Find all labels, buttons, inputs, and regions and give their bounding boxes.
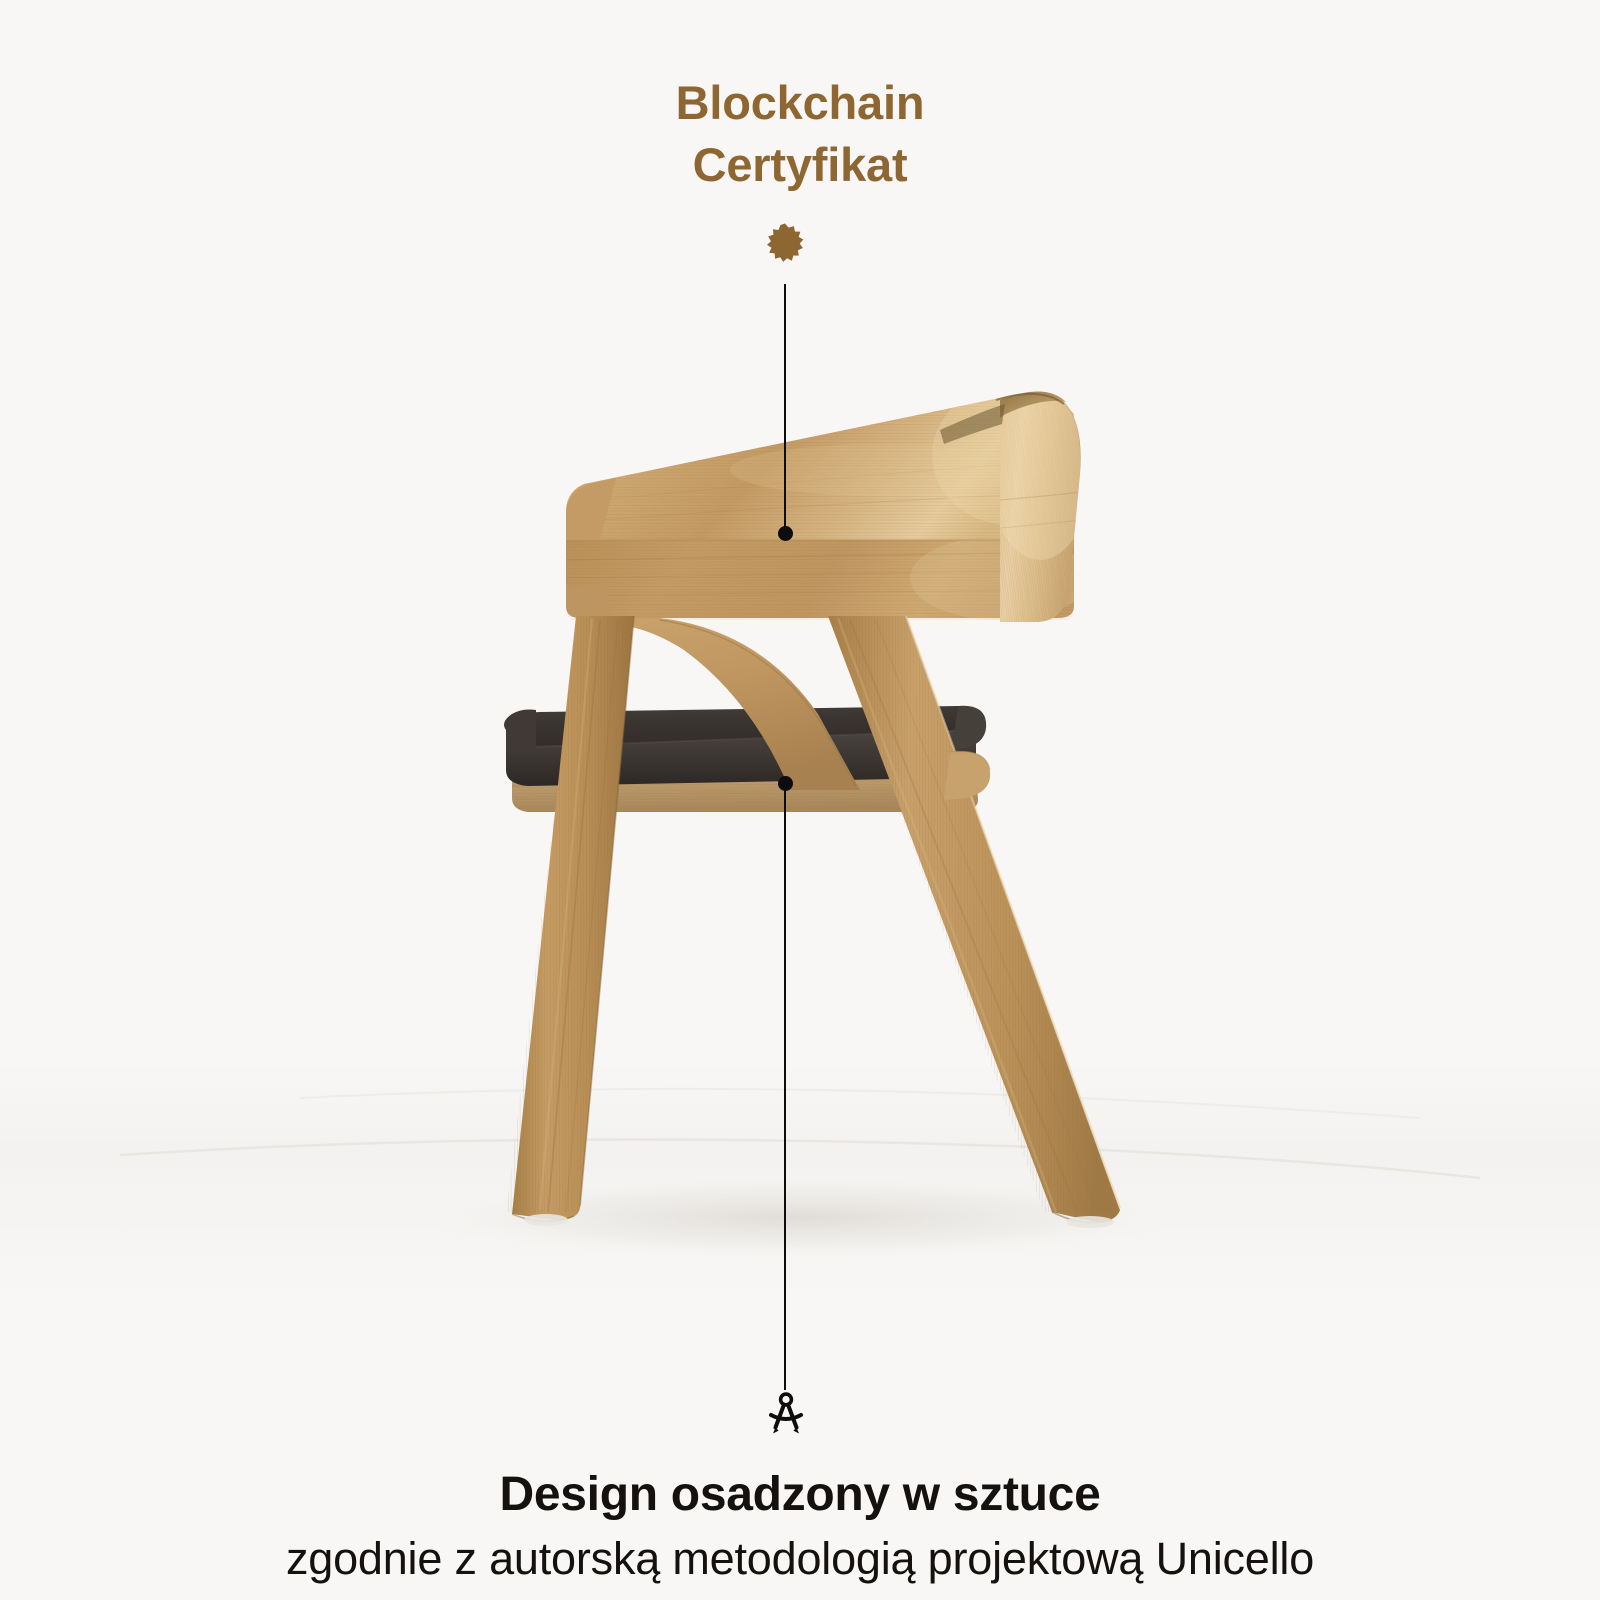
callout-dot-seat: [778, 776, 793, 791]
callout-line-bottom: [784, 786, 786, 1390]
design-caption-block: Design osadzony w sztuce zgodnie z autor…: [0, 1468, 1600, 1585]
design-caption-title: Design osadzony w sztuce: [0, 1468, 1600, 1522]
design-caption-subtitle: zgodnie z autorską metodologią projektow…: [0, 1532, 1600, 1585]
poster-canvas: Blockchain Certyfikat Design osadzony w …: [0, 0, 1600, 1600]
callout-line-top: [784, 284, 786, 532]
callout-dot-backrest: [778, 526, 793, 541]
heading-line-1: Blockchain: [676, 76, 925, 129]
drafting-compass-icon: [762, 1390, 810, 1438]
certificate-rosette-icon: [762, 222, 808, 268]
blockchain-certificate-heading: Blockchain Certyfikat: [0, 72, 1600, 196]
heading-line-2: Certyfikat: [0, 134, 1600, 196]
